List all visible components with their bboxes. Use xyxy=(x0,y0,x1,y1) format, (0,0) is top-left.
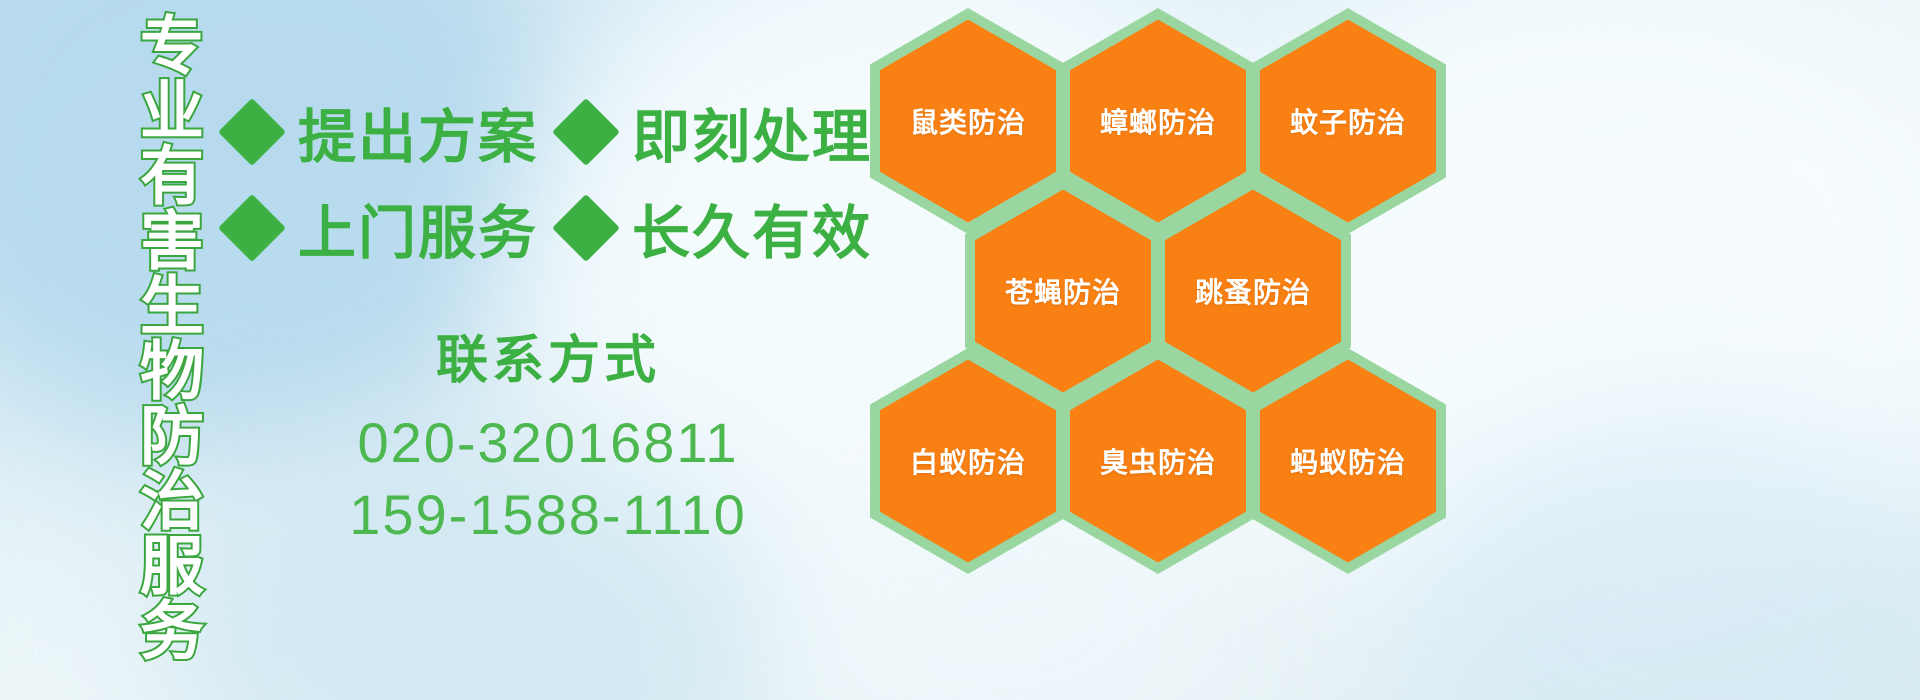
hex-fill: 蚊子防治 xyxy=(1260,20,1436,223)
feature-label: 即刻处理 xyxy=(632,90,872,174)
contact-phone-landline[interactable]: 020-32016811 xyxy=(228,407,868,479)
service-label: 蟑螂防治 xyxy=(1100,101,1216,141)
banner-stage: 专业有害生物防治服务 提出方案 即刻处理 上门服务 长久有效 联系方式 020-… xyxy=(0,0,1920,700)
hex-fill: 苍蝇防治 xyxy=(975,190,1151,393)
contact-phone-mobile[interactable]: 159-1588-1110 xyxy=(228,479,868,551)
diamond-icon xyxy=(552,194,620,262)
hex-fill: 跳蚤防治 xyxy=(1165,190,1341,393)
vertical-headline: 专业有害生物防治服务 xyxy=(103,12,199,662)
feature-row: 上门服务 长久有效 xyxy=(228,180,868,276)
service-label: 鼠类防治 xyxy=(910,101,1026,141)
service-label: 蚊子防治 xyxy=(1290,101,1406,141)
feature-label: 上门服务 xyxy=(298,186,538,270)
feature-label: 提出方案 xyxy=(298,90,538,174)
hex-fill: 臭虫防治 xyxy=(1070,360,1246,563)
service-label: 跳蚤防治 xyxy=(1195,271,1311,311)
hex-fill: 蚂蚁防治 xyxy=(1260,360,1436,563)
feature-label: 长久有效 xyxy=(632,186,872,270)
diamond-icon xyxy=(218,194,286,262)
feature-row: 提出方案 即刻处理 xyxy=(228,84,868,180)
contact-block: 联系方式 020-32016811 159-1588-1110 xyxy=(228,318,868,550)
diamond-icon xyxy=(552,98,620,166)
hex-fill: 蟑螂防治 xyxy=(1070,20,1246,223)
service-label: 臭虫防治 xyxy=(1100,441,1216,481)
contact-title: 联系方式 xyxy=(228,318,868,393)
hex-fill: 白蚁防治 xyxy=(880,360,1056,563)
hex-fill: 鼠类防治 xyxy=(880,20,1056,223)
service-label: 蚂蚁防治 xyxy=(1290,441,1406,481)
service-label: 白蚁防治 xyxy=(910,441,1026,481)
service-hex-grid: 鼠类防治 蟑螂防治 蚊子防治 苍蝇防治 跳蚤防治 白蚁防治 xyxy=(862,0,1462,568)
service-label: 苍蝇防治 xyxy=(1005,271,1121,311)
feature-list: 提出方案 即刻处理 上门服务 长久有效 xyxy=(228,84,868,276)
diamond-icon xyxy=(218,98,286,166)
